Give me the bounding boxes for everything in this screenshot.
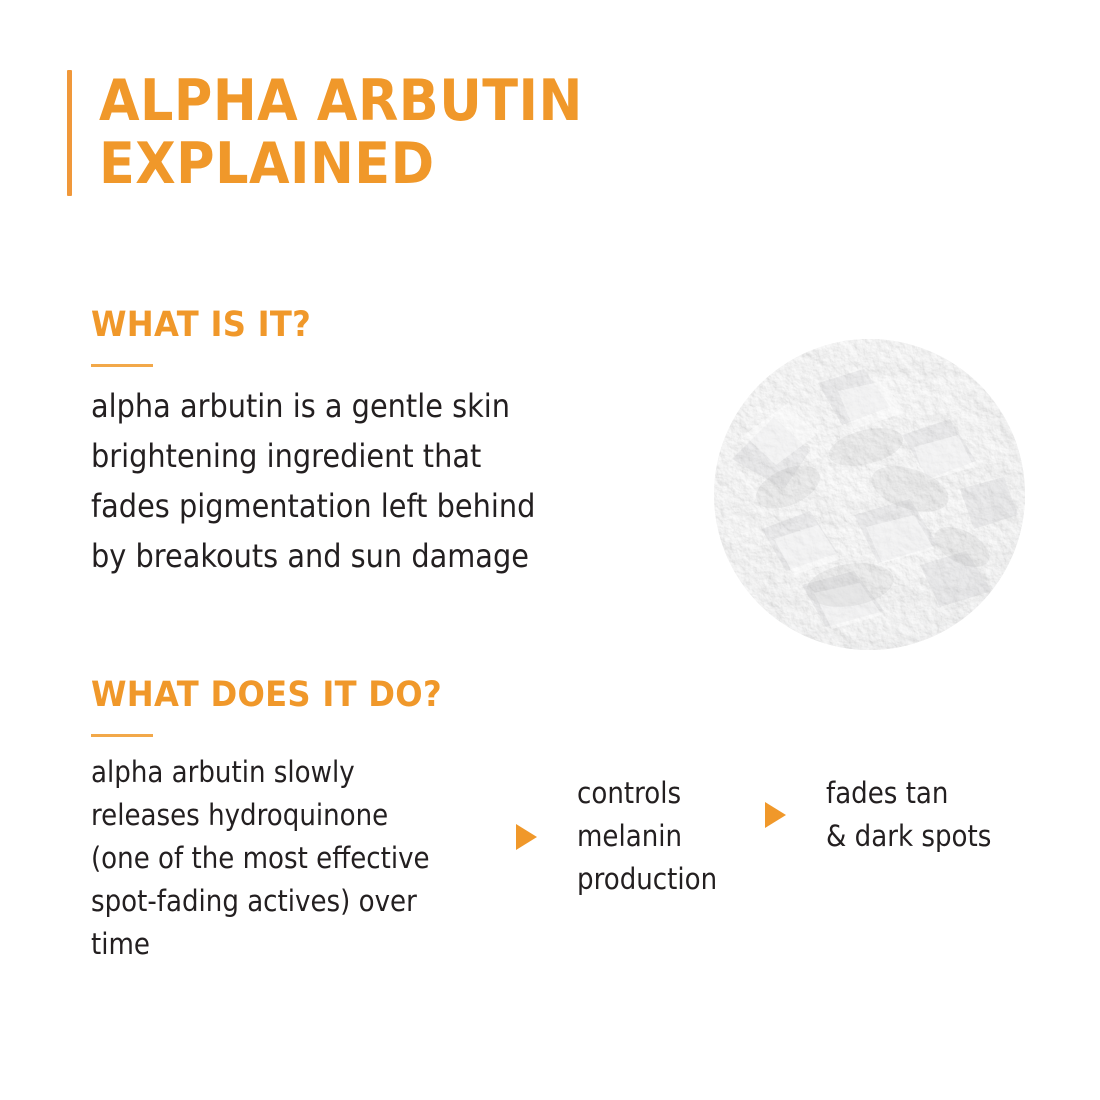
benefit-label: controls melanin production — [577, 772, 717, 901]
section-heading-what-does-it-do: WHAT DOES IT DO? — [91, 675, 523, 715]
section-heading-what-is-it: WHAT IS IT? — [91, 305, 545, 345]
page-title: ALPHA ARBUTIN EXPLAINED — [67, 70, 625, 196]
section-body-what-is-it: alpha arbutin is a gentle skin brighteni… — [91, 381, 535, 581]
title-text: ALPHA ARBUTIN EXPLAINED — [99, 70, 583, 196]
section-divider — [91, 364, 153, 367]
section-what-is-it: WHAT IS IT? alpha arbutin is a gentle sk… — [91, 305, 585, 581]
infographic-canvas: ALPHA ARBUTIN EXPLAINED WHAT IS IT? alph… — [0, 0, 1100, 1100]
triangle-right-icon — [516, 824, 537, 850]
benefit-item: fades tan & dark spots — [765, 772, 1010, 858]
benefit-item: controls melanin production — [516, 772, 733, 901]
section-what-does-it-do: WHAT DOES IT DO? alpha arbutin slowly re… — [91, 675, 561, 966]
section-body-what-does-it-do: alpha arbutin slowly releases hydroquino… — [91, 751, 514, 966]
benefit-label: fades tan & dark spots — [826, 772, 991, 858]
title-accent-bar — [67, 70, 72, 196]
triangle-right-icon — [765, 802, 786, 828]
alpha-arbutin-powder-photo — [714, 339, 1025, 650]
section-divider — [91, 734, 153, 737]
